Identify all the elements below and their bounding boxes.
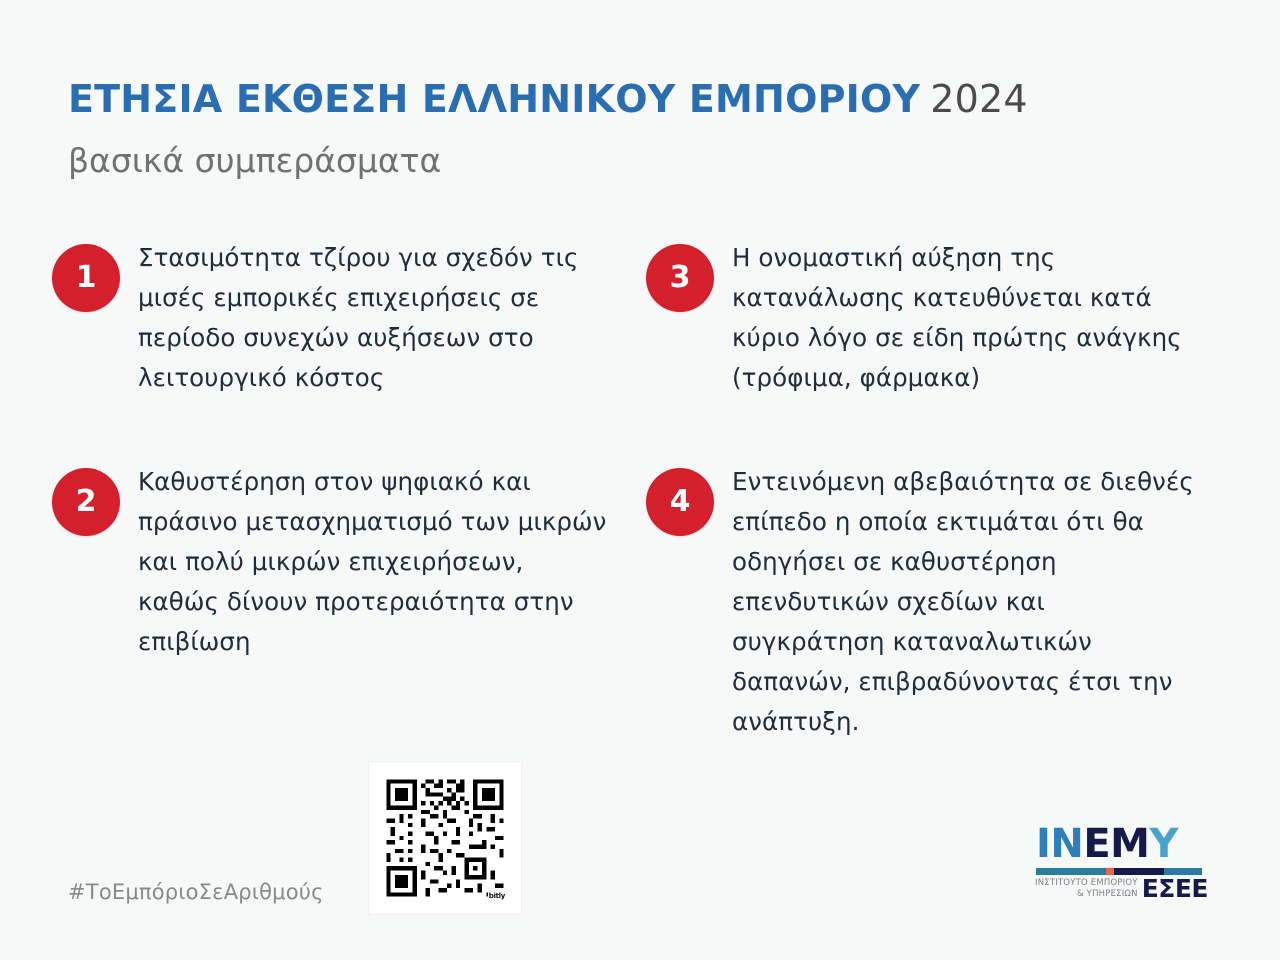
qr-brand-label: bitly [488, 892, 506, 900]
logo-bar-segment-orange [1106, 868, 1114, 875]
key-point-item: 2 Καθυστέρηση στον ψηφιακό και πράσινο μ… [52, 462, 638, 742]
logo-subtitle-row: ΙΝΣΤΙΤΟΥΤΟ ΕΜΠΟΡΙΟΥ & ΥΠΗΡΕΣΙΩΝ ΕΣΕΕ [1036, 878, 1208, 900]
key-point-item: 1 Στασιμότητα τζίρου για σχεδόν τις μισέ… [52, 238, 638, 398]
page-title-main: ΕΤΗΣΙΑ ΕΚΘΕΣΗ ΕΛΛΗΝΙΚΟΥ ΕΜΠΟΡΙΟΥ [68, 77, 920, 121]
point-text: Καθυστέρηση στον ψηφιακό και πράσινο μετ… [138, 462, 608, 662]
page-title-year: 2024 [930, 77, 1028, 121]
hashtag-label: #ΤοΕμπόριοΣεΑριθμούς [68, 880, 324, 904]
key-point-item: 3 Η ονομαστική αύξηση της κατανάλωσης κα… [646, 238, 1232, 398]
header: ΕΤΗΣΙΑ ΕΚΘΕΣΗ ΕΛΛΗΝΙΚΟΥ ΕΜΠΟΡΙΟΥ2024 βασ… [68, 74, 1168, 182]
logo-wordmark-part3: Y [1150, 821, 1178, 867]
point-text: Στασιμότητα τζίρου για σχεδόν τις μισές … [138, 238, 608, 398]
point-number-badge: 2 [52, 468, 120, 536]
point-number-badge: 1 [52, 244, 120, 312]
point-text: Η ονομαστική αύξηση της κατανάλωσης κατε… [732, 238, 1202, 398]
slide: ΕΤΗΣΙΑ ΕΚΘΕΣΗ ΕΛΛΗΝΙΚΟΥ ΕΜΠΟΡΙΟΥ2024 βασ… [0, 0, 1280, 960]
page-subtitle: βασικά συμπεράσματα [68, 140, 1168, 182]
inemy-esee-logo: INEMY ΙΝΣΤΙΤΟΥΤΟ ΕΜΠΟΡΙΟΥ & ΥΠΗΡΕΣΙΩΝ ΕΣ… [1036, 822, 1208, 900]
logo-esee-text: ΕΣΕΕ [1142, 878, 1208, 900]
logo-institute-text: ΙΝΣΤΙΤΟΥΤΟ ΕΜΠΟΡΙΟΥ & ΥΠΗΡΕΣΙΩΝ [1035, 878, 1138, 900]
qr-code-image: bitly [382, 775, 508, 901]
point-text: Εντεινόμενη αβεβαιότητα σε διεθνές επίπε… [732, 462, 1202, 742]
logo-wordmark-part1: IN [1036, 821, 1083, 867]
key-points-grid: 1 Στασιμότητα τζίρου για σχεδόν τις μισέ… [52, 238, 1232, 742]
qr-code[interactable]: bitly [369, 762, 521, 914]
point-number-badge: 3 [646, 244, 714, 312]
logo-wordmark-part2: EM [1083, 821, 1149, 867]
logo-wordmark: INEMY [1036, 822, 1208, 866]
key-point-item: 4 Εντεινόμενη αβεβαιότητα σε διεθνές επί… [646, 462, 1232, 742]
point-number-badge: 4 [646, 468, 714, 536]
logo-bar-segment-teal-left [1036, 868, 1106, 875]
logo-institute-line1: ΙΝΣΤΙΤΟΥΤΟ ΕΜΠΟΡΙΟΥ [1035, 878, 1138, 889]
page-title: ΕΤΗΣΙΑ ΕΚΘΕΣΗ ΕΛΛΗΝΙΚΟΥ ΕΜΠΟΡΙΟΥ2024 [68, 74, 1168, 124]
qr-matrix-icon [382, 775, 508, 901]
logo-institute-line2: & ΥΠΗΡΕΣΙΩΝ [1035, 889, 1138, 900]
